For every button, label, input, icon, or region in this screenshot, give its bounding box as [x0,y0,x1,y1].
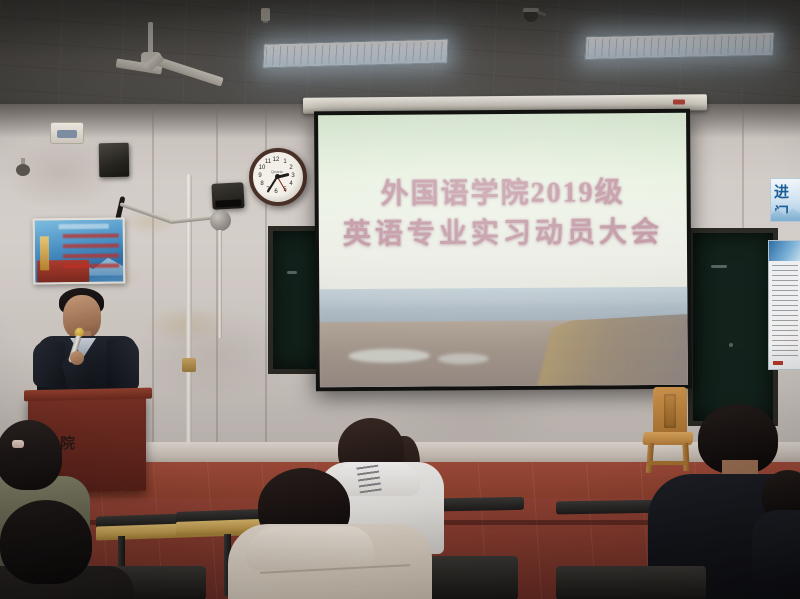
projection-screen: 外国语学院2019级 英语专业实习动员大会 [314,109,692,392]
clock-numeral: 2 [287,164,295,172]
slide-title-line-2: 英语专业实习动员大会 [319,212,687,254]
notice-poster [768,240,800,370]
notice-poster-header [769,241,800,261]
podium-top-surface [24,388,152,402]
presenter-shoulder-left [33,341,65,387]
chalk-smudge [287,271,297,274]
audience-hair [0,500,92,584]
articulated-wall-lamp[interactable] [120,196,230,242]
clock-center-pin [275,174,280,179]
audience-member [0,500,134,599]
lamp-arm-upper [119,202,173,224]
clock-numeral: 3 [289,172,297,180]
presenter-shoulder-right [107,339,139,391]
notice-poster-seal [773,361,783,365]
camera-ball [16,164,30,176]
chalk-smudge [729,343,733,347]
slide-water-pool [349,348,430,362]
wall-speaker-box [99,143,130,178]
lamp-head [210,210,231,231]
blue-promotional-poster [33,218,126,285]
presenter [35,281,139,403]
slide-title: 外国语学院2019级 英语专业实习动员大会 [318,173,687,255]
audience-member [240,468,430,599]
clock-numeral: 8 [258,180,266,188]
wall-clock: 12 1 2 3 4 5 6 7 8 9 10 11 Quartz [249,148,307,206]
slide-title-line-1: 外国语学院2019级 [318,173,686,215]
chair-leg [646,443,654,473]
audience-member [762,470,800,599]
classroom-photo-scene: 进门 12 1 2 3 4 5 6 7 8 9 10 11 Quartz [0,0,800,599]
clock-numeral: 9 [256,172,264,180]
projection-screen-surface: 外国语学院2019级 英语专业实习动员大会 [318,113,688,388]
poster-column-graphic [40,236,49,270]
air-conditioner-vent [50,122,84,144]
entrance-sign: 进门 [770,178,800,222]
clock-numeral: 12 [272,156,280,164]
clock-numeral: 11 [264,158,272,166]
presenter-hand [70,351,84,365]
poster-header-bar [59,224,109,230]
housing-indicator [673,99,685,104]
hair-clip [12,440,24,448]
clock-numeral: 6 [272,188,280,196]
chalk-smudge [711,265,727,268]
audience-hair [0,420,62,490]
poster-text-block [63,234,119,269]
clock-face: 12 1 2 3 4 5 6 7 8 9 10 11 Quartz [255,154,301,200]
seat-back [556,566,706,599]
lamp-pole [218,230,222,338]
notice-poster-text-lines [772,265,798,357]
jacket-hood [246,526,374,570]
blackboard-right [688,228,778,426]
dome-camera-icon [16,158,30,176]
audience-jacket [752,510,800,599]
pipe-clamp [182,358,196,372]
